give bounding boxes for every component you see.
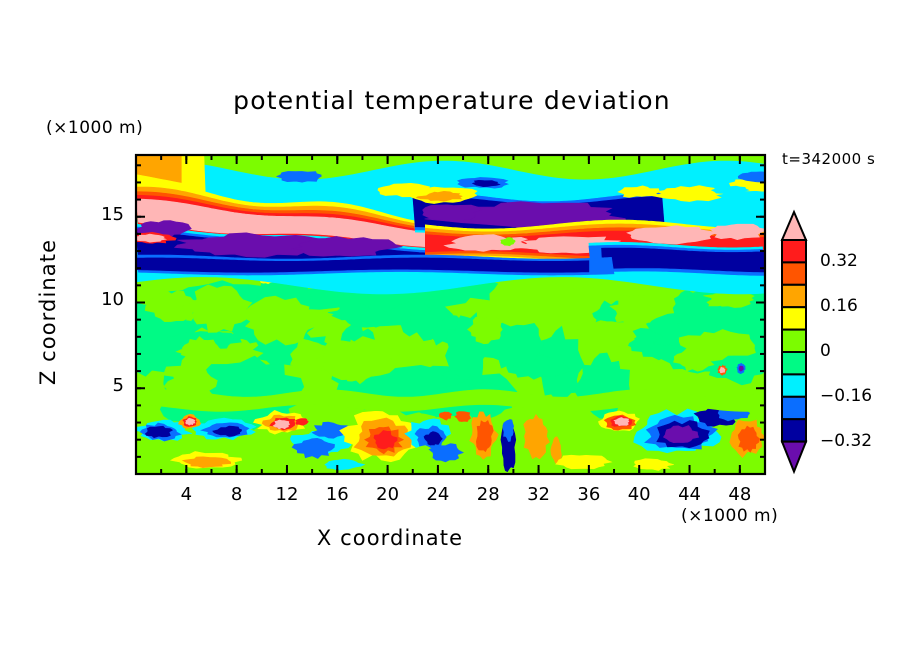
- x-tick-label: 40: [615, 484, 663, 505]
- colorbar-tick-label: 0.16: [820, 296, 858, 316]
- colorbar: [782, 212, 806, 472]
- chart-title: potential temperature deviation: [0, 86, 904, 115]
- colorbar-tick-label: 0: [820, 341, 831, 361]
- y-tick-label: 5: [74, 375, 124, 396]
- plot-frame: [136, 155, 765, 474]
- x-axis-unit-label: (×1000 m): [681, 506, 778, 526]
- x-tick-label: 16: [313, 484, 361, 505]
- colorbar-tick-label: 0.32: [820, 251, 858, 271]
- y-axis-unit-label: (×1000 m): [46, 118, 143, 138]
- x-tick-label: 4: [162, 484, 210, 505]
- contour-field: [93, 155, 809, 474]
- y-tick-label: 15: [74, 204, 124, 225]
- x-tick-label: 44: [666, 484, 714, 505]
- x-tick-label: 12: [263, 484, 311, 505]
- colorbar-tick-label: −0.32: [820, 431, 872, 451]
- y-tick-label: 10: [74, 289, 124, 310]
- x-tick-label: 48: [716, 484, 764, 505]
- x-tick-label: 8: [213, 484, 261, 505]
- axis-ticks: [136, 155, 765, 474]
- x-tick-label: 28: [464, 484, 512, 505]
- x-tick-label: 36: [565, 484, 613, 505]
- timestamp-label: t=342000 s: [782, 150, 875, 168]
- x-tick-label: 20: [364, 484, 412, 505]
- x-tick-label: 24: [414, 484, 462, 505]
- y-axis-title: Z coordinate: [36, 202, 60, 422]
- x-tick-label: 32: [515, 484, 563, 505]
- colorbar-tick-label: −0.16: [820, 386, 872, 406]
- x-axis-title: X coordinate: [0, 526, 780, 550]
